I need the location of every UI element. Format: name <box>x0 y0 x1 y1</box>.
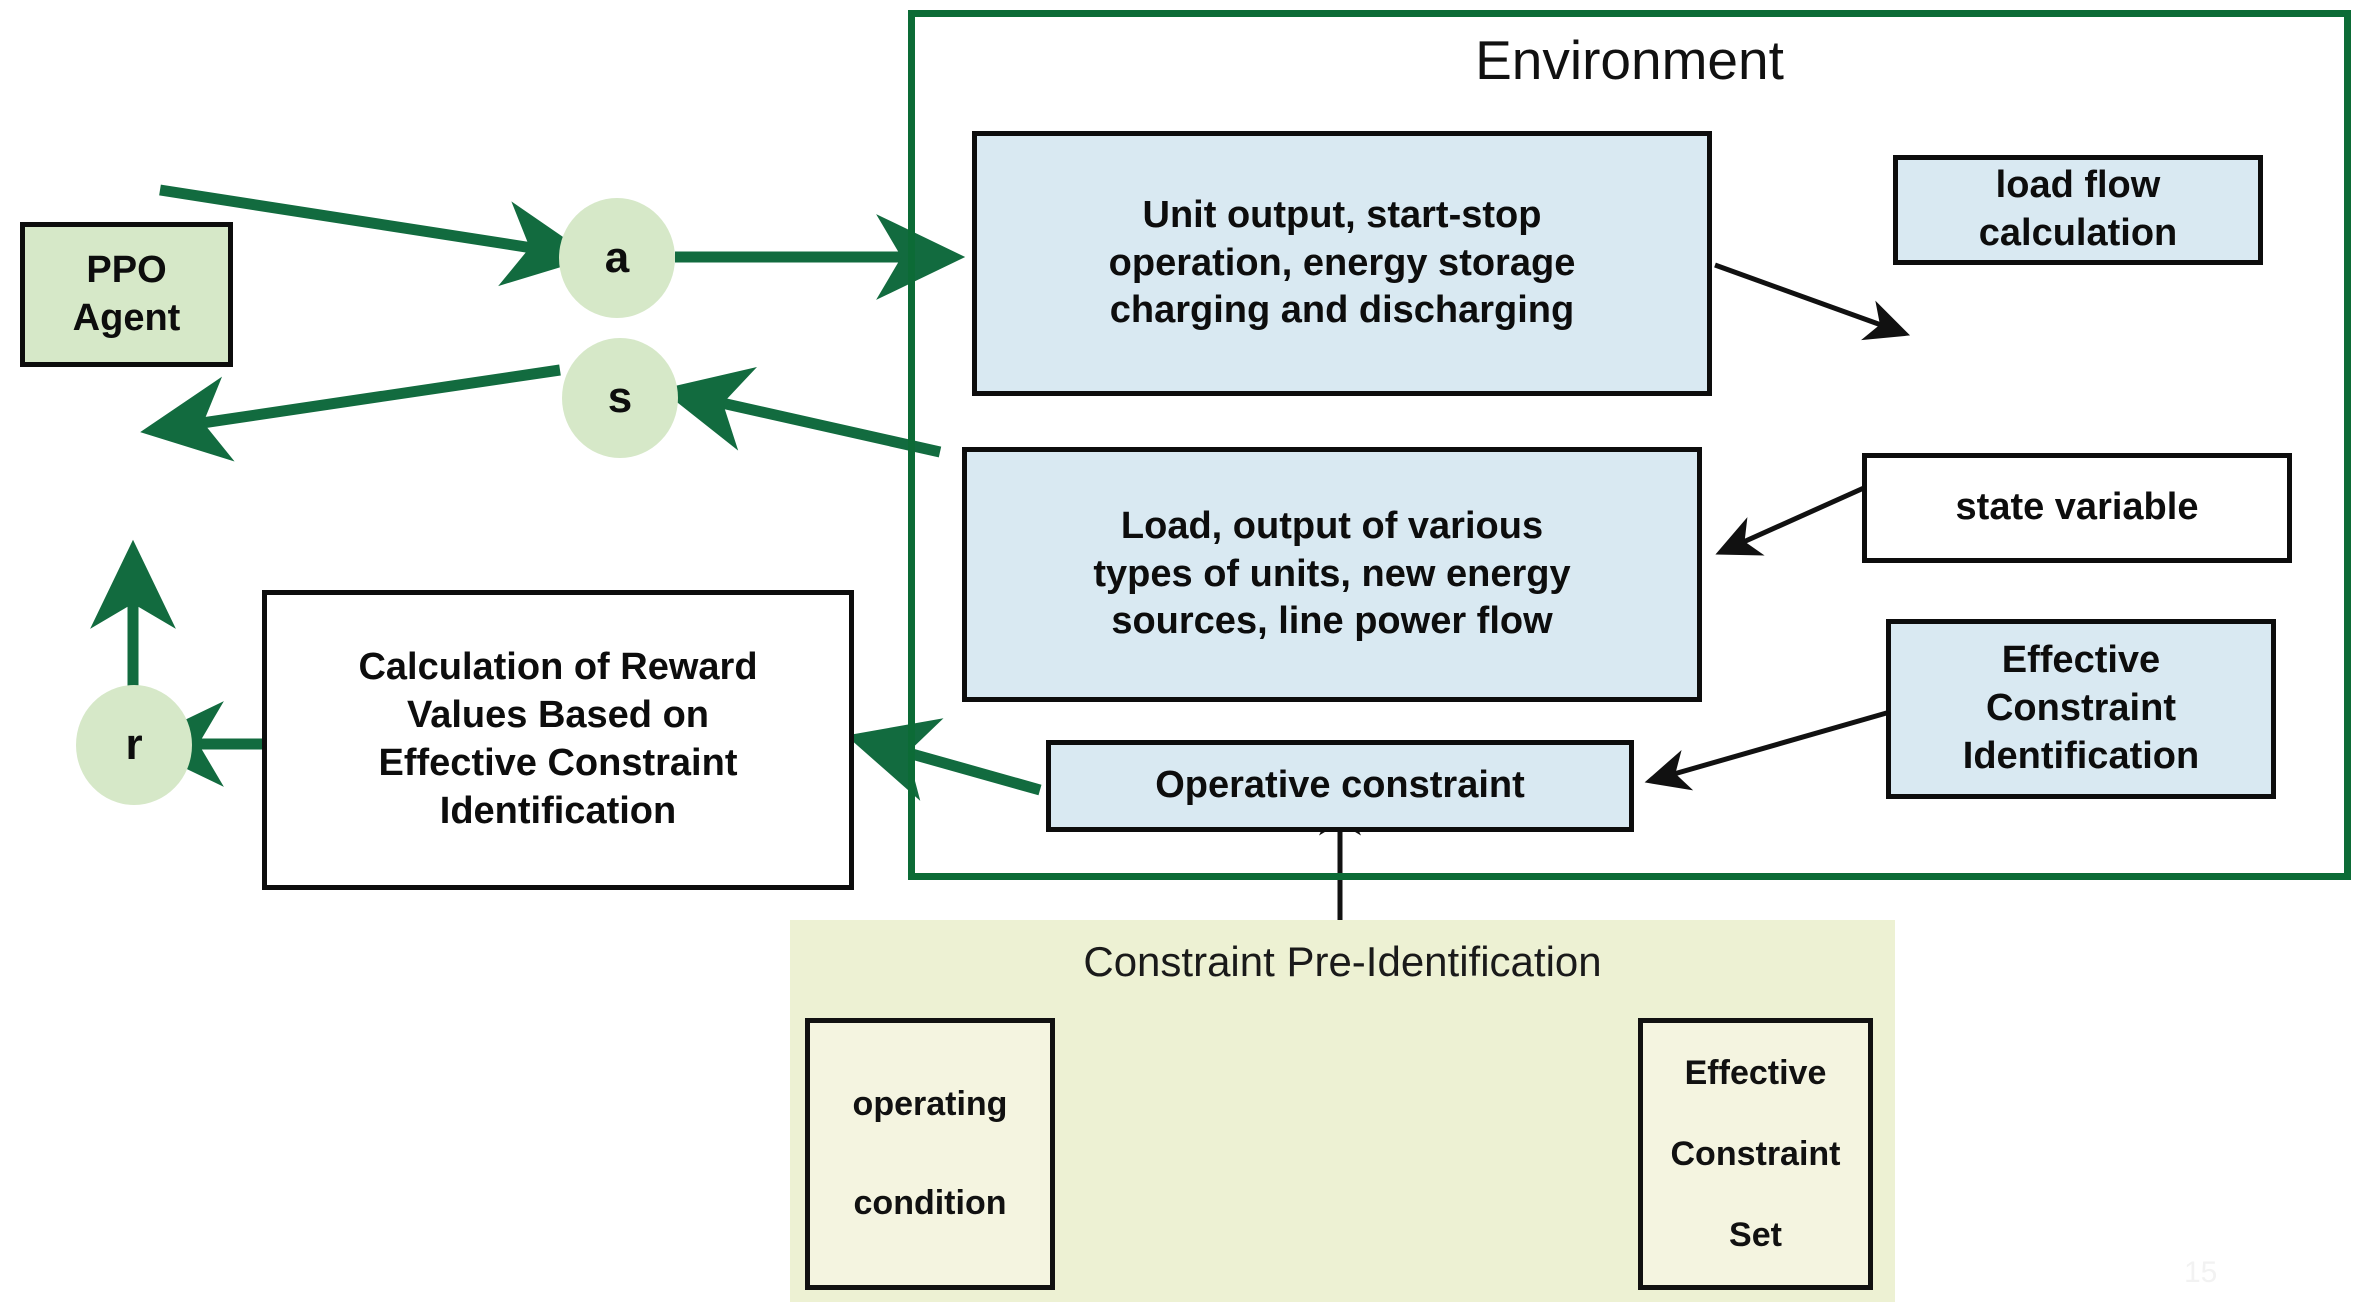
environment-title: Environment <box>908 28 2351 92</box>
state-observation-box[interactable]: Load, output of various types of units, … <box>962 447 1702 702</box>
state-token-label: s <box>608 373 632 423</box>
operative-constraint-box[interactable]: Operative constraint <box>1046 740 1634 832</box>
action-token[interactable]: a <box>559 198 675 318</box>
reward-calculation-box[interactable]: Calculation of Reward Values Based on Ef… <box>262 590 854 890</box>
action-effects-label: Unit output, start-stop operation, energ… <box>1109 192 1576 336</box>
constraint-pre-identification-title: Constraint Pre-Identification <box>790 938 1895 986</box>
reward-token[interactable]: r <box>76 685 192 805</box>
diagram-canvas: Environment PPO Agent a s r Calculation … <box>0 0 2361 1302</box>
effective-constraint-set-line-1: Effective <box>1685 1054 1827 1093</box>
effective-constraint-identification-box[interactable]: Effective Constraint Identification <box>1886 619 2276 799</box>
state-variable-label: state variable <box>1956 484 2199 532</box>
effective-constraint-set-line-2: Constraint <box>1671 1135 1841 1174</box>
effective-constraint-set-line-3: Set <box>1729 1216 1782 1255</box>
operative-constraint-label: Operative constraint <box>1155 762 1525 810</box>
effective-constraint-set-box[interactable]: Effective Constraint Set <box>1638 1018 1873 1290</box>
state-variable-box[interactable]: state variable <box>1862 453 2292 563</box>
arrow-state-to-agent <box>175 370 560 427</box>
ppo-agent-label: PPO Agent <box>73 247 181 343</box>
reward-token-label: r <box>125 720 142 770</box>
load-flow-calculation-box[interactable]: load flow calculation <box>1893 155 2263 265</box>
operating-condition-line-2: condition <box>854 1184 1007 1223</box>
effective-constraint-identification-label: Effective Constraint Identification <box>1963 637 2199 781</box>
operating-condition-box[interactable]: operating condition <box>805 1018 1055 1290</box>
action-token-label: a <box>605 233 629 283</box>
action-effects-box[interactable]: Unit output, start-stop operation, energ… <box>972 131 1712 396</box>
load-flow-calculation-label: load flow calculation <box>1979 162 2178 258</box>
page-number: 15 <box>2184 1256 2217 1290</box>
ppo-agent-box[interactable]: PPO Agent <box>20 222 233 367</box>
operating-condition-line-1: operating <box>853 1085 1008 1124</box>
arrow-load-to-state <box>695 397 940 452</box>
reward-calculation-label: Calculation of Reward Values Based on Ef… <box>358 644 757 836</box>
state-token[interactable]: s <box>562 338 678 458</box>
state-observation-label: Load, output of various types of units, … <box>1093 503 1570 647</box>
